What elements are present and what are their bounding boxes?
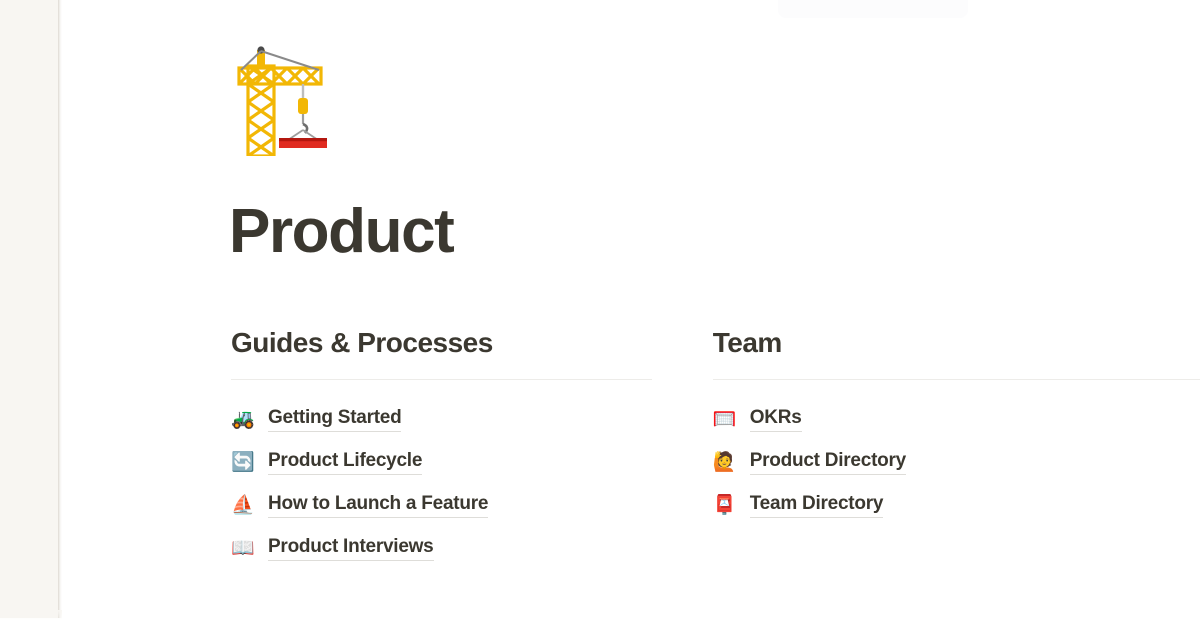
person-raising-hand-emoji: 🙋 [713, 452, 735, 474]
section-divider [713, 379, 1200, 380]
link-team-directory[interactable]: Team Directory [750, 493, 883, 518]
page-icon-building-construction-emoji[interactable] [231, 44, 327, 156]
open-book-emoji: 📖 [231, 538, 253, 560]
sailboat-emoji: ⛵ [231, 495, 253, 517]
section-columns: Guides & Processes 🚜 Getting Started 🔄 P… [231, 325, 1200, 570]
postbox-emoji: 📮 [713, 495, 735, 517]
link-how-to-launch-a-feature[interactable]: How to Launch a Feature [268, 493, 488, 518]
column-guides-processes: Guides & Processes 🚜 Getting Started 🔄 P… [231, 325, 713, 570]
page-title: Product [229, 198, 453, 266]
sidebar-bottom-fade [0, 610, 62, 620]
list-item[interactable]: 🙋 Product Directory [713, 441, 1200, 484]
page-content: Product Guides & Processes 🚜 Getting Sta… [62, 0, 1200, 630]
link-list-guides-processes: 🚜 Getting Started 🔄 Product Lifecycle ⛵ … [231, 398, 652, 570]
list-item[interactable]: 🔄 Product Lifecycle [231, 441, 652, 484]
list-item[interactable]: 📖 Product Interviews [231, 527, 652, 570]
goal-net-emoji: 🥅 [713, 409, 735, 431]
section-heading-team: Team [713, 325, 1200, 360]
tractor-emoji: 🚜 [231, 409, 253, 431]
list-item[interactable]: 📮 Team Directory [713, 484, 1200, 527]
link-product-interviews[interactable]: Product Interviews [268, 536, 434, 561]
link-product-directory[interactable]: Product Directory [750, 450, 906, 475]
sidebar-rail[interactable] [0, 0, 58, 618]
counterclockwise-arrows-emoji: 🔄 [231, 452, 253, 474]
list-item[interactable]: 🚜 Getting Started [231, 398, 652, 441]
link-product-lifecycle[interactable]: Product Lifecycle [268, 450, 422, 475]
list-item[interactable]: 🥅 OKRs [713, 398, 1200, 441]
column-team: Team 🥅 OKRs 🙋 Product Directory 📮 Team D… [713, 325, 1200, 570]
wiki-page: Product Guides & Processes 🚜 Getting Sta… [0, 0, 1200, 630]
list-item[interactable]: ⛵ How to Launch a Feature [231, 484, 652, 527]
link-getting-started[interactable]: Getting Started [268, 407, 401, 432]
section-divider [231, 379, 652, 380]
link-list-team: 🥅 OKRs 🙋 Product Directory 📮 Team Direct… [713, 398, 1200, 527]
section-heading-guides-processes: Guides & Processes [231, 325, 652, 360]
link-okrs[interactable]: OKRs [750, 407, 802, 432]
